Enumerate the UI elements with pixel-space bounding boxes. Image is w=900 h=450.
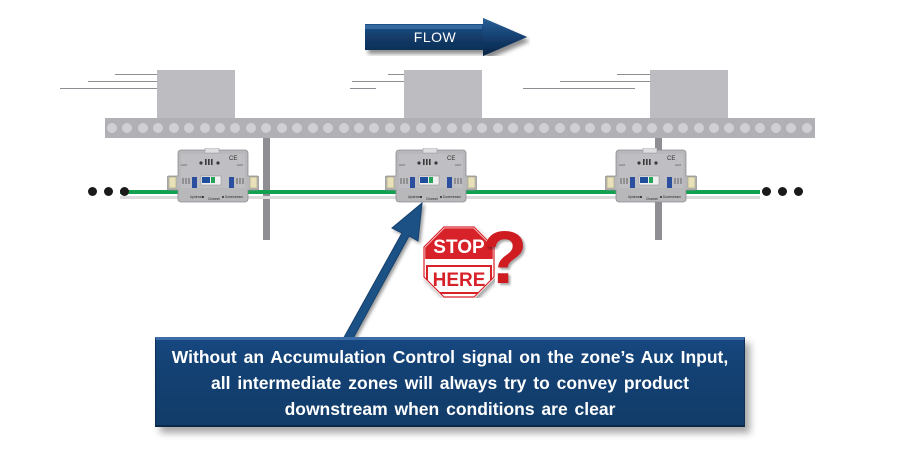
zone-control-module-3[interactable]	[605, 148, 697, 204]
motion-line	[60, 88, 165, 89]
zone-control-module-1[interactable]	[167, 148, 259, 204]
conveyor-roller	[585, 123, 595, 133]
conveyor-roller	[724, 123, 734, 133]
conveyor-roller	[601, 123, 611, 133]
package-box	[157, 70, 235, 120]
conveyor-roller	[200, 123, 210, 133]
ellipsis-dot	[778, 187, 787, 196]
conveyor-roller	[616, 123, 626, 133]
package-box	[650, 70, 728, 120]
stop-sign-line2: HERE	[433, 270, 486, 291]
conveyor-roller	[632, 123, 642, 133]
conveyor-roller	[184, 123, 194, 133]
conveyor-roller	[508, 123, 518, 133]
flow-arrow	[365, 18, 530, 56]
conveyor-roller	[385, 123, 395, 133]
conveyor-roller	[447, 123, 457, 133]
conveyor-roller	[339, 123, 349, 133]
conveyor-roller	[771, 123, 781, 133]
conveyor-roller	[169, 123, 179, 133]
conveyor-roller	[277, 123, 287, 133]
conveyor-roller	[755, 123, 765, 133]
conveyor-roller	[369, 123, 379, 133]
conveyor-roller	[246, 123, 256, 133]
conveyor-roller	[122, 123, 132, 133]
conveyor-roller	[477, 123, 487, 133]
conveyor-roller	[786, 123, 796, 133]
conveyor-roller	[230, 123, 240, 133]
conveyor-roller	[802, 123, 812, 133]
motion-line	[352, 81, 410, 82]
conveyor-roller	[308, 123, 318, 133]
conveyor-roller	[138, 123, 148, 133]
conveyor-roller	[153, 123, 163, 133]
stop-sign-line1: STOP	[433, 237, 485, 258]
conveyor-roller	[493, 123, 503, 133]
package-box	[404, 70, 482, 120]
conveyor-roller	[400, 123, 410, 133]
conveyor-roller	[107, 123, 117, 133]
ellipsis-dot	[120, 187, 129, 196]
conveyor-roller	[539, 123, 549, 133]
conveyor-roller	[323, 123, 333, 133]
conveyor-roller	[354, 123, 364, 133]
motion-line	[560, 81, 658, 82]
conveyor-roller	[663, 123, 673, 133]
conveyor-leg	[263, 135, 270, 240]
conveyor-roller	[292, 123, 302, 133]
left-ellipsis	[88, 187, 129, 196]
conveyor-roller	[555, 123, 565, 133]
conveyor-roller	[462, 123, 472, 133]
conveyor-roller	[740, 123, 750, 133]
ellipsis-dot	[104, 187, 113, 196]
right-ellipsis	[762, 187, 803, 196]
conveyor-bar	[105, 118, 815, 138]
conveyor-roller	[570, 123, 580, 133]
conveyor-roller	[524, 123, 534, 133]
conveyor-roller	[261, 123, 271, 133]
conveyor-roller	[416, 123, 426, 133]
conveyor-roller	[678, 123, 688, 133]
callout-text: Without an Accumulation Control signal o…	[156, 344, 744, 422]
conveyor-roller	[431, 123, 441, 133]
motion-line	[523, 88, 635, 89]
conveyor-roller	[215, 123, 225, 133]
conveyor-roller	[709, 123, 719, 133]
question-mark-icon: ?	[482, 222, 528, 298]
callout-box: Without an Accumulation Control signal o…	[155, 337, 745, 427]
ellipsis-dot	[794, 187, 803, 196]
diagram-canvas: FLOW	[0, 0, 900, 450]
conveyor-roller	[694, 123, 704, 133]
ellipsis-dot	[762, 187, 771, 196]
conveyor-roller	[647, 123, 657, 133]
motion-line	[350, 88, 376, 89]
ellipsis-dot	[88, 187, 97, 196]
